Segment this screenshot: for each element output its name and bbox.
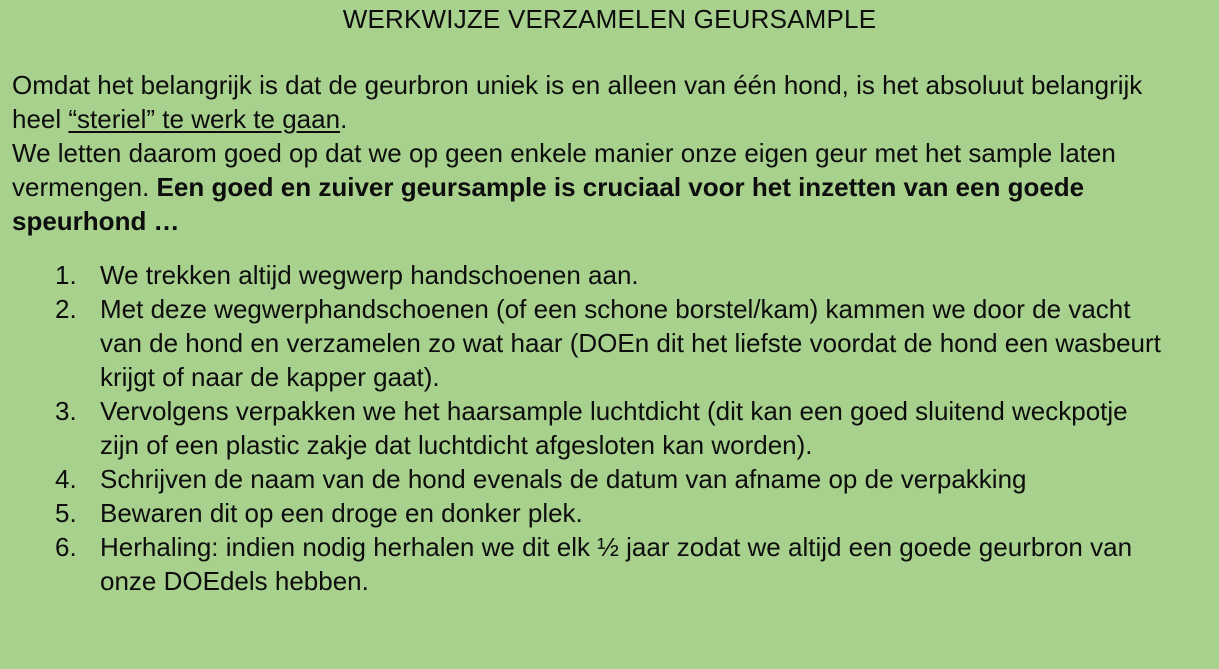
intro-paragraph-1-underlined-text: “steriel” te werk te gaan	[68, 104, 340, 134]
list-item-number: 6.	[55, 530, 95, 564]
list-item-number: 3.	[55, 394, 95, 428]
list-item-number: 4.	[55, 462, 95, 496]
list-item: 5. Bewaren dit op een droge en donker pl…	[0, 496, 1219, 530]
list-item: 3. Vervolgens verpakken we het haarsampl…	[0, 394, 1219, 462]
list-item-text: Vervolgens verpakken we het haarsample l…	[100, 394, 1164, 462]
list-item: 1. We trekken altijd wegwerp handschoene…	[0, 258, 1219, 292]
list-item-number: 2.	[55, 292, 95, 326]
intro-paragraph-1: Omdat het belangrijk is dat de geurbron …	[0, 68, 1219, 136]
intro-paragraph-2-bold-text: Een goed en zuiver geursample is cruciaa…	[12, 172, 1084, 236]
list-item-text: We trekken altijd wegwerp handschoenen a…	[100, 258, 1164, 292]
list-item-text: Met deze wegwerphandschoenen (of een sch…	[100, 292, 1164, 394]
steps-list: 1. We trekken altijd wegwerp handschoene…	[0, 258, 1219, 598]
list-item: 4. Schrijven de naam van de hond evenals…	[0, 462, 1219, 496]
list-item-text: Schrijven de naam van de hond evenals de…	[100, 462, 1164, 496]
list-item-number: 5.	[55, 496, 95, 530]
list-item: 6. Herhaling: indien nodig herhalen we d…	[0, 530, 1219, 598]
list-item-text: Herhaling: indien nodig herhalen we dit …	[100, 530, 1164, 598]
intro-paragraph-2: We letten daarom goed op dat we op geen …	[0, 136, 1219, 238]
list-item-number: 1.	[55, 258, 95, 292]
page-title: WERKWIJZE VERZAMELEN GEURSAMPLE	[0, 3, 1219, 35]
document-page: WERKWIJZE VERZAMELEN GEURSAMPLE Omdat he…	[0, 3, 1219, 669]
intro-paragraph-1-text-after: .	[340, 104, 347, 134]
list-item: 2. Met deze wegwerphandschoenen (of een …	[0, 292, 1219, 394]
list-item-text: Bewaren dit op een droge en donker plek.	[100, 496, 1164, 530]
